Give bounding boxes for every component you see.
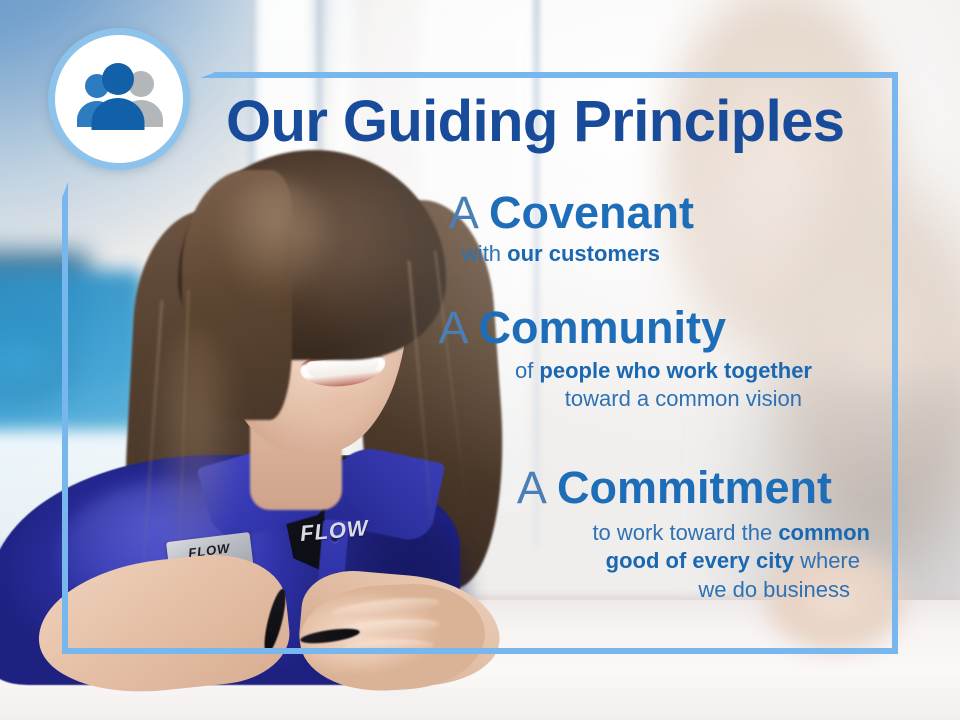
guiding-principles-banner: FLOW AUTOMOTIVE FLOW (0, 0, 960, 720)
principle-subtext: with our customers (0, 240, 712, 269)
principle-subtext-line: good of every city where (0, 547, 870, 576)
principle-keyword: Community (479, 302, 727, 353)
principle-article: A (449, 187, 477, 238)
principle-community: A Community of people who work together … (0, 305, 822, 414)
principle-heading: A Covenant (0, 190, 712, 236)
principle-heading: A Commitment (0, 465, 880, 511)
principle-keyword: Commitment (557, 462, 832, 513)
principle-subtext-line: of people who work together (0, 357, 812, 386)
principle-commitment: A Commitment to work toward the common g… (0, 465, 880, 605)
principle-subtext-line: with our customers (0, 240, 660, 269)
people-group-icon (71, 62, 167, 136)
principle-article: A (517, 462, 545, 513)
frame-right-border (892, 72, 898, 654)
principle-subtext-line: to work toward the common (0, 519, 870, 548)
frame-bottom-border (62, 648, 898, 654)
principle-subtext-line: toward a common vision (0, 385, 812, 414)
principle-heading: A Community (0, 305, 822, 351)
frame-top-border (214, 72, 898, 78)
people-icon-badge (48, 28, 190, 170)
page-title: Our Guiding Principles (226, 88, 844, 155)
principle-keyword: Covenant (489, 187, 694, 238)
principle-subtext: of people who work together toward a com… (0, 357, 822, 414)
principle-subtext: to work toward the common good of every … (0, 519, 880, 605)
principle-subtext-line: we do business (0, 576, 870, 605)
principle-article: A (438, 302, 466, 353)
principle-covenant: A Covenant with our customers (0, 190, 712, 268)
